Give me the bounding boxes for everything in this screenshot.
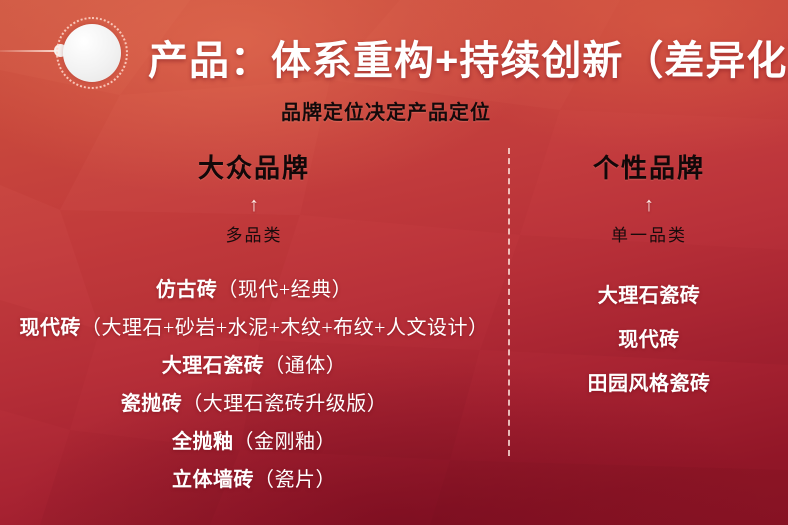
list-item: 仿古砖（现代+经典） — [0, 280, 508, 300]
product-name: 大理石瓷砖 — [162, 355, 265, 377]
up-arrow-icon: ↑ — [0, 195, 508, 215]
list-item: 现代砖 — [510, 330, 788, 350]
product-name: 仿古砖 — [156, 279, 218, 301]
product-name: 现代砖 — [20, 317, 82, 339]
product-qualifier: （现代+经典） — [217, 279, 352, 301]
list-item: 现代砖（大理石+砂岩+水泥+木纹+布纹+人文设计） — [0, 318, 508, 338]
product-qualifier: （通体） — [264, 355, 346, 377]
list-item: 大理石瓷砖（通体） — [0, 356, 508, 376]
product-list-personality-brand: 大理石瓷砖 现代砖 田园风格瓷砖 — [510, 286, 788, 394]
list-item: 瓷抛砖（大理石瓷砖升级版） — [0, 394, 508, 414]
slide-root: 产品：体系重构+持续创新（差异化） 品牌定位决定产品定位 大众品牌 ↑ 多品类 … — [0, 0, 788, 525]
column-heading-personality-brand: 个性品牌 — [510, 148, 788, 185]
product-name: 现代砖 — [618, 329, 680, 351]
page-title: 产品：体系重构+持续创新（差异化） — [148, 28, 788, 86]
product-qualifier: （瓷片） — [254, 469, 336, 491]
list-item: 田园风格瓷砖 — [510, 374, 788, 394]
column-personality-brand: 个性品牌 ↑ 单一品类 大理石瓷砖 现代砖 田园风格瓷砖 — [510, 148, 788, 418]
list-item: 立体墙砖（瓷片） — [0, 470, 508, 490]
column-mass-brand: 大众品牌 ↑ 多品类 仿古砖（现代+经典） 现代砖（大理石+砂岩+水泥+木纹+布… — [0, 148, 508, 508]
product-qualifier: （大理石+砂岩+水泥+木纹+布纹+人文设计） — [81, 317, 488, 339]
list-item: 全抛釉（金刚釉） — [0, 432, 508, 452]
product-list-mass-brand: 仿古砖（现代+经典） 现代砖（大理石+砂岩+水泥+木纹+布纹+人文设计） 大理石… — [0, 280, 508, 490]
column-heading-mass-brand: 大众品牌 — [0, 148, 508, 185]
product-name: 立体墙砖 — [172, 469, 254, 491]
up-arrow-icon: ↑ — [510, 195, 788, 215]
product-name: 大理石瓷砖 — [598, 285, 701, 307]
list-item: 大理石瓷砖 — [510, 286, 788, 306]
white-disc-icon — [63, 24, 121, 82]
bullet-circle-icon — [56, 17, 128, 89]
category-note-mass-brand: 多品类 — [0, 221, 508, 246]
product-name: 田园风格瓷砖 — [588, 373, 711, 395]
lead-line-decoration — [0, 50, 60, 52]
product-name: 全抛釉 — [172, 431, 234, 453]
category-note-personality-brand: 单一品类 — [510, 221, 788, 246]
page-subtitle: 品牌定位决定产品定位 — [0, 96, 788, 125]
product-name: 瓷抛砖 — [121, 393, 183, 415]
product-qualifier: （大理石瓷砖升级版） — [182, 393, 387, 415]
product-qualifier: （金刚釉） — [234, 431, 337, 453]
